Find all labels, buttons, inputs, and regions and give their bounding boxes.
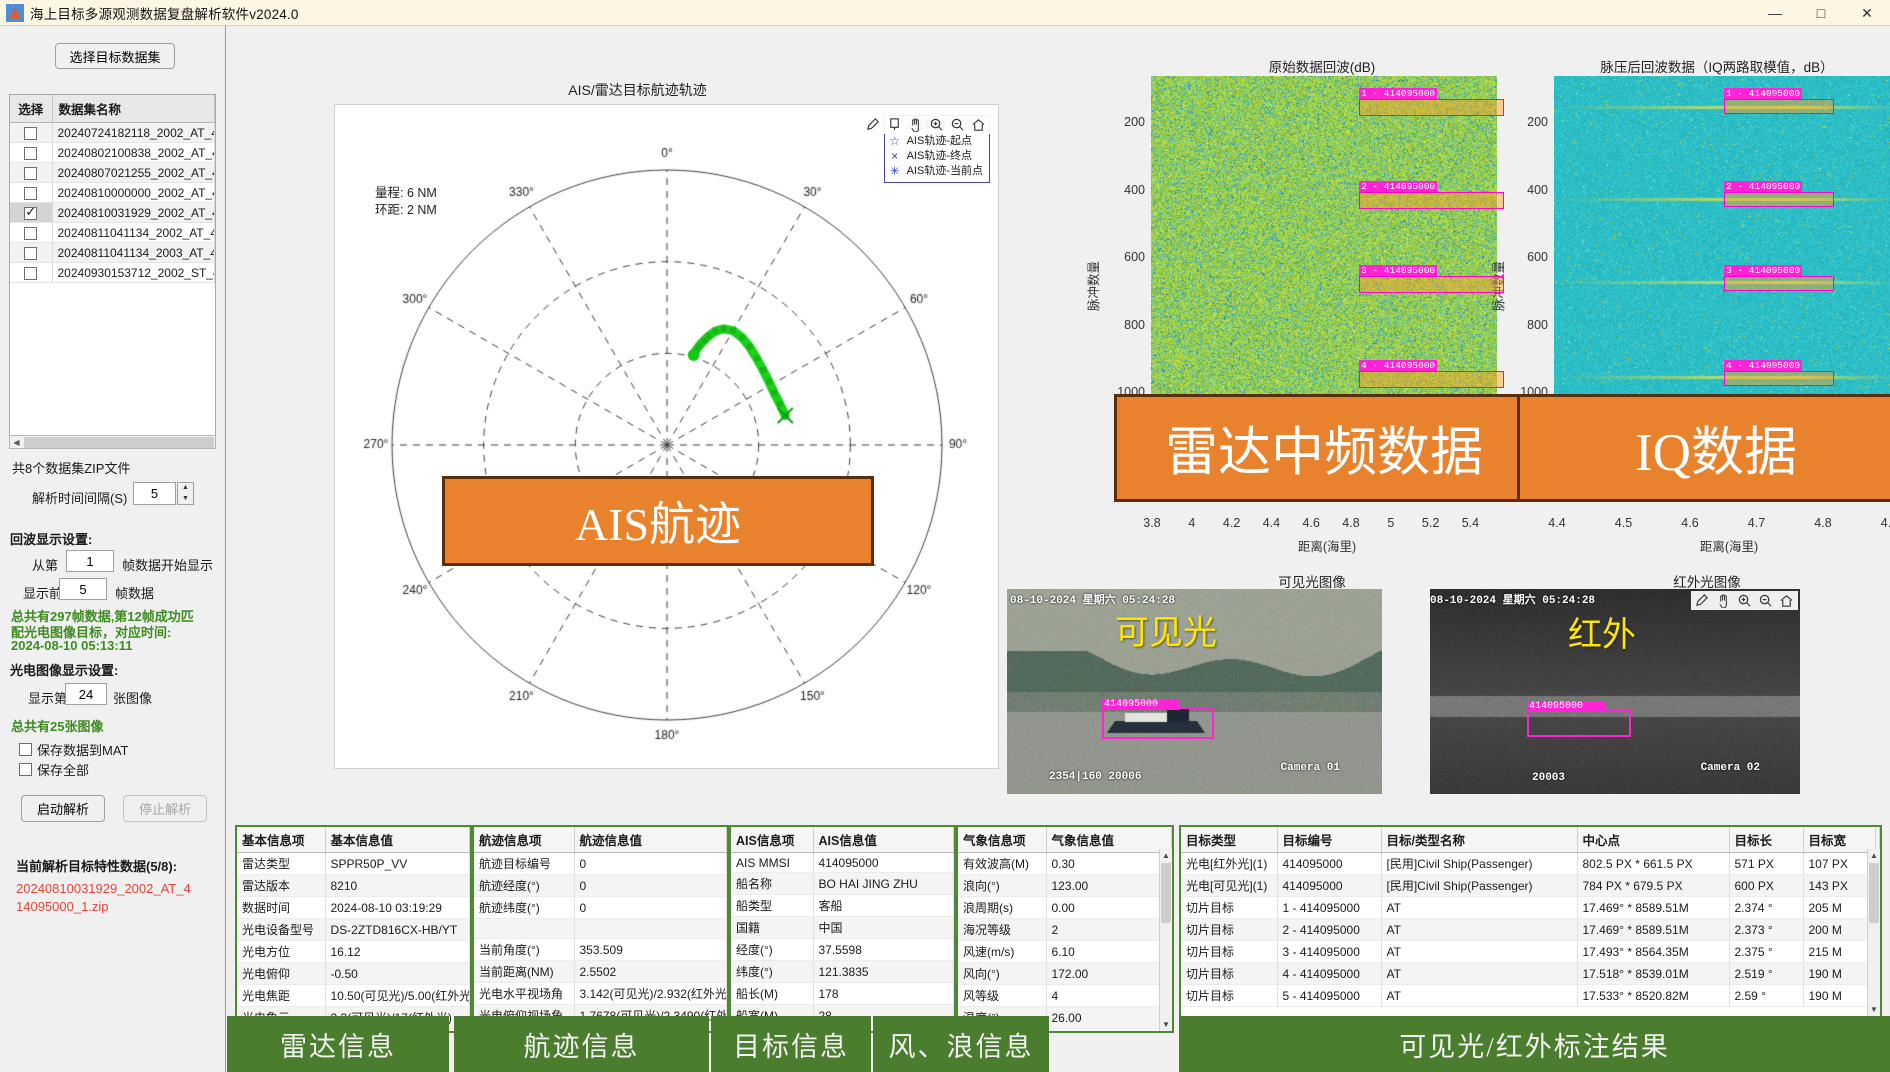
image-index-input[interactable] — [65, 683, 107, 705]
table-cell: 光电方位 — [237, 941, 325, 963]
dataset-row[interactable]: 20240811041134_2002_AT_414 — [10, 223, 215, 243]
dataset-row-name: 20240724182118_2002_AT_413 — [52, 123, 215, 143]
table-cell: 2.59 ° — [1729, 985, 1803, 1007]
section-tab-label: 航迹信息 — [524, 1025, 640, 1064]
table-cell: BO HAI JING ZHU — [813, 873, 954, 895]
brush-icon[interactable] — [866, 117, 881, 132]
table-cell: 121.3835 — [813, 961, 954, 983]
table-cell: 航迹纬度(°) — [474, 897, 574, 919]
radar-iq-overlay-banner: IQ数据 — [1517, 394, 1890, 502]
table-cell: 切片目标 — [1181, 919, 1277, 941]
legend-asterisk-icon: ✳ — [888, 164, 902, 179]
table-cell: 2.375 ° — [1729, 941, 1803, 963]
dataset-row-checkbox-cell[interactable] — [10, 143, 52, 163]
table-cell: 当前距离(NM) — [474, 961, 574, 983]
table-cell: 17.493° * 8564.35M — [1577, 941, 1729, 963]
radar-raw-ylabel: 脉冲数量 — [1083, 261, 1102, 311]
legend-entry-current: ✳ AIS轨迹-当前点 — [888, 164, 983, 179]
image-index-suffix: 张图像 — [113, 688, 152, 707]
table-cell: 414095000 — [813, 853, 954, 873]
table-cell: 经度(°) — [731, 939, 813, 961]
scroll-thumb[interactable] — [1161, 863, 1171, 923]
section-tab[interactable]: 雷达信息 — [227, 1016, 449, 1072]
table-row[interactable]: 经度(°)37.5598 — [731, 939, 954, 961]
dataset-checkbox[interactable] — [24, 147, 37, 160]
table-cell: -0.50 — [325, 963, 470, 985]
table-row[interactable] — [474, 919, 727, 939]
table-row[interactable]: 航迹经度(°)0 — [474, 875, 727, 897]
radar-target-label: 2 - 414095000 — [1359, 181, 1437, 192]
infrared-osd-bottom-left: 20003 — [1532, 772, 1565, 784]
x-tick-label: 4.8 — [1331, 516, 1371, 530]
table-cell: 浪向(°) — [958, 875, 1046, 897]
dataset-row-name: 20240810031929_2002_AT_414 — [52, 203, 215, 223]
legend-label-start: AIS轨迹-起点 — [907, 134, 972, 149]
visible-osd-bottom-left: 2354|160 20006 — [1049, 771, 1141, 783]
table-row[interactable]: 切片目标3 - 414095000AT17.493° * 8564.35M2.3… — [1181, 941, 1880, 963]
table-cell: 17.533° * 8520.82M — [1577, 985, 1729, 1007]
table-cell: 205 M — [1803, 897, 1875, 919]
infrared-image-title: 红外光图像 — [1557, 571, 1857, 591]
dataset-row[interactable]: 20240807021255_2002_AT_414 — [10, 163, 215, 183]
track-info-table[interactable]: 航迹信息项航迹信息值航迹目标编号0航迹经度(°)0航迹纬度(°)0当前角度(°)… — [472, 825, 729, 1033]
table-cell: AIS MMSI — [731, 853, 813, 873]
radar-target-box — [1724, 192, 1834, 207]
maximize-button[interactable]: □ — [1798, 0, 1844, 26]
x-tick-label: 4.6 — [1670, 516, 1710, 530]
table-cell: 风等级 — [958, 985, 1046, 1007]
table-cell — [574, 919, 727, 939]
table-cell: AT — [1381, 919, 1577, 941]
table-cell: 2 - 414095000 — [1277, 919, 1381, 941]
radar-target-label: 1 - 414095000 — [1724, 88, 1802, 99]
table-cell: AT — [1381, 897, 1577, 919]
stepper-down-icon[interactable]: ▼ — [178, 494, 193, 505]
column-header: AIS信息值 — [813, 827, 954, 853]
column-header: 航迹信息值 — [574, 827, 727, 853]
radar-target-label: 2 - 414095000 — [1724, 181, 1802, 192]
table-row[interactable]: 光电焦距10.50(可见光)/5.00(红外光) — [237, 985, 470, 1007]
column-header: 基本信息项 — [237, 827, 325, 853]
table-cell: 当前角度(°) — [474, 939, 574, 961]
show-first-input[interactable] — [59, 578, 107, 600]
table-cell: 切片目标 — [1181, 985, 1277, 1007]
table-cell: 123.00 — [1046, 875, 1172, 897]
table-row[interactable]: 风等级4 — [958, 985, 1172, 1007]
table-cell: AT — [1381, 985, 1577, 1007]
frame-status-line-3: 2024-08-10 05:13:11 — [11, 638, 132, 653]
dataset-row-checkbox-cell[interactable] — [10, 183, 52, 203]
table-cell: 2 — [1046, 919, 1172, 941]
radar-target-label: 4 - 414095000 — [1359, 360, 1437, 371]
section-tab[interactable]: 可见光/红外标注结果 — [1179, 1016, 1890, 1072]
title-bar: 海上目标多源观测数据复盘解析软件v2024.0 — □ ✕ — [0, 0, 1890, 26]
close-button[interactable]: ✕ — [1844, 0, 1890, 26]
window-controls: — □ ✕ — [1752, 0, 1890, 26]
weather-table-vscroll[interactable]: ▲ ▼ — [1159, 849, 1172, 1031]
section-tab-label: 可见光/红外标注结果 — [1399, 1025, 1670, 1064]
dataset-list-table[interactable]: 选择 数据集名称 20240724182118_2002_AT_41320240… — [9, 94, 216, 442]
y-tick-label: 600 — [1105, 250, 1145, 264]
interval-stepper[interactable]: ▲ ▼ — [177, 482, 194, 505]
y-tick-label: 400 — [1508, 183, 1548, 197]
table-cell: 2.519 ° — [1729, 963, 1803, 985]
table-row[interactable]: 光电方位16.12 — [237, 941, 470, 963]
dataset-row[interactable]: 20240802100838_2002_AT_414 — [10, 143, 215, 163]
from-frame-suffix: 帧数据开始显示 — [122, 555, 213, 574]
radar-raw-xlabel: 距离(海里) — [1262, 536, 1392, 555]
dataset-row[interactable]: 20240724182118_2002_AT_413 — [10, 123, 215, 143]
dataset-checkbox[interactable] — [24, 167, 37, 180]
table-cell: 802.5 PX * 661.5 PX — [1577, 853, 1729, 875]
infrared-detection-box — [1527, 709, 1631, 737]
infrared-axes-toolbar[interactable] — [1691, 591, 1798, 610]
column-header: 目标编号 — [1277, 827, 1381, 853]
table-row[interactable]: 浪周期(s)0.00 — [958, 897, 1172, 919]
table-cell: 切片目标 — [1181, 897, 1277, 919]
ais-ring-label: 环距: 2 NM — [375, 202, 437, 219]
radar-iq-title: 脉压后回波数据（IQ两路取模值，dB） — [1517, 56, 1890, 76]
table-cell: 切片目标 — [1181, 941, 1277, 963]
table-cell: 船长(M) — [731, 983, 813, 1005]
save-mat-checkbox[interactable] — [19, 743, 32, 756]
section-tab-bar: 雷达信息航迹信息目标信息风、浪信息可见光/红外标注结果 — [227, 1016, 1890, 1072]
radar-target-box — [1359, 99, 1504, 116]
basic-info-table[interactable]: 基本信息项基本信息值雷达类型SPPR50P_VV雷达版本8210数据时间2024… — [235, 825, 472, 1033]
radar-target-label: 4 - 414095000 — [1724, 360, 1802, 371]
current-file-line-1: 20240810031929_2002_AT_4 — [16, 881, 191, 896]
table-cell: 8210 — [325, 875, 470, 897]
image-total-label: 总共有25张图像 — [11, 716, 103, 735]
app-icon — [6, 5, 24, 21]
section-tab-label: 目标信息 — [733, 1025, 849, 1064]
table-cell: 353.509 — [574, 939, 727, 961]
table-row[interactable]: 有效波高(M)0.30 — [958, 853, 1172, 875]
table-cell: 0 — [574, 853, 727, 875]
ais-track-panel: AIS/雷达目标航迹轨迹 量程: 6 NM 环距: 2 NM — AIS轨迹 ☆… — [305, 80, 970, 785]
pan-hand-icon[interactable] — [908, 117, 923, 132]
dataset-checkbox[interactable] — [24, 127, 37, 140]
radar-raw-title: 原始数据回波(dB) — [1122, 56, 1522, 76]
table-row[interactable]: AIS MMSI414095000 — [731, 853, 954, 873]
show-first-prefix: 显示前 — [23, 583, 62, 602]
table-row[interactable]: 切片目标5 - 414095000AT17.533° * 8520.82M2.5… — [1181, 985, 1880, 1007]
table-cell: 0 — [574, 897, 727, 919]
column-header: 目标宽 — [1803, 827, 1875, 853]
column-header: AIS信息项 — [731, 827, 813, 853]
table-row[interactable]: 浪向(°)123.00 — [958, 875, 1172, 897]
dataset-checkbox[interactable] — [24, 247, 37, 260]
radar-raw-overlay-banner: 雷达中频数据 — [1114, 394, 1534, 502]
dataset-row[interactable]: 20240930153712_2002_ST_412 — [10, 263, 215, 283]
home-icon[interactable] — [971, 117, 986, 132]
table-cell: 571 PX — [1729, 853, 1803, 875]
table-cell: 600 PX — [1729, 875, 1803, 897]
table-row[interactable]: 切片目标1 - 414095000AT17.469° * 8589.51M2.3… — [1181, 897, 1880, 919]
from-frame-prefix: 从第 — [32, 555, 58, 574]
x-tick-label: 4.4 — [1251, 516, 1291, 530]
table-row[interactable]: 风向(°)172.00 — [958, 963, 1172, 985]
table-row[interactable]: 光电[可见光](1)414095000[民用]Civil Ship(Passen… — [1181, 875, 1880, 897]
table-row[interactable]: 船长(M)178 — [731, 983, 954, 1005]
dataset-row-name: 20240802100838_2002_AT_414 — [52, 143, 215, 163]
radar-target-label: 3 - 414095000 — [1724, 265, 1802, 276]
infrared-detection-label: 414095000 — [1527, 701, 1605, 712]
radar-target-box — [1359, 371, 1504, 388]
zoom-in-icon[interactable] — [1737, 593, 1752, 608]
show-first-suffix: 帧数据 — [115, 583, 154, 602]
dataset-row-name: 20240811041134_2002_AT_414 — [52, 223, 215, 243]
table-cell: 2024-08-10 03:19:29 — [325, 897, 470, 919]
target-annotation-table[interactable]: 目标类型目标编号目标/类型名称中心点目标长目标宽设备光电[红外光](1)4140… — [1179, 825, 1882, 1033]
table-cell: 光电俯仰 — [237, 963, 325, 985]
table-cell: 风速(m/s) — [958, 941, 1046, 963]
dataset-checkbox[interactable] — [24, 227, 37, 240]
table-cell: 光电设备型号 — [237, 919, 325, 941]
table-cell: 4 — [1046, 985, 1172, 1007]
dataset-row-checkbox-cell[interactable] — [10, 203, 52, 223]
table-row[interactable]: 风速(m/s)6.10 — [958, 941, 1172, 963]
table-cell: 3 - 414095000 — [1277, 941, 1381, 963]
save-mat-checkbox-row[interactable]: 保存数据到MAT — [19, 740, 128, 759]
dataset-row-checkbox-cell[interactable] — [10, 263, 52, 283]
table-row[interactable]: 当前距离(NM)2.5502 — [474, 961, 727, 983]
table-cell: 172.00 — [1046, 963, 1172, 985]
radar-iq-image[interactable] — [1554, 76, 1890, 420]
stepper-up-icon[interactable]: ▲ — [178, 483, 193, 494]
scroll-thumb[interactable] — [24, 437, 214, 448]
scroll-up-arrow[interactable]: ▲ — [1160, 849, 1172, 862]
table-cell: 17.469° * 8589.51M — [1577, 919, 1729, 941]
table-cell: 光电水平视场角 — [474, 983, 574, 1005]
table-cell: 414095000 — [1277, 875, 1381, 897]
table-cell: 0 — [574, 875, 727, 897]
table-cell: 国籍 — [731, 917, 813, 939]
legend-label-end: AIS轨迹-终点 — [907, 149, 972, 164]
left-control-panel: 选择目标数据集 选择 数据集名称 20240724182118_2002_AT_… — [0, 26, 226, 1072]
x-tick-label: 4.2 — [1212, 516, 1252, 530]
table-cell: 143 PX — [1803, 875, 1875, 897]
table-cell: 4 - 414095000 — [1277, 963, 1381, 985]
scroll-thumb[interactable] — [1869, 863, 1879, 923]
table-cell: 雷达版本 — [237, 875, 325, 897]
current-analysis-title: 当前解析目标特性数据(5/8): — [16, 856, 177, 875]
dataset-row[interactable]: 20240811041134_2003_AT_414 — [10, 243, 215, 263]
table-cell: 16.12 — [325, 941, 470, 963]
x-tick-label: 4 — [1172, 516, 1212, 530]
radar-target-box — [1359, 192, 1504, 209]
table-row[interactable]: 当前角度(°)353.509 — [474, 939, 727, 961]
table-row[interactable]: 船类型客船 — [731, 895, 954, 917]
table-cell: [民用]Civil Ship(Passenger) — [1381, 853, 1577, 875]
radar-target-label: 1 - 414095000 — [1359, 88, 1437, 99]
zoom-in-icon[interactable] — [929, 117, 944, 132]
table-cell: 2.374 ° — [1729, 897, 1803, 919]
table-cell: 航迹经度(°) — [474, 875, 574, 897]
dataset-col-name: 数据集名称 — [52, 95, 215, 123]
table-row[interactable]: 光电水平视场角3.142(可见光)/2.932(红外光) — [474, 983, 727, 1005]
radar-target-box — [1724, 99, 1834, 114]
zip-count-label: 共8个数据集ZIP文件 — [12, 458, 130, 477]
interval-label: 解析时间间隔(S) — [32, 488, 127, 507]
scroll-up-arrow[interactable]: ▲ — [1868, 849, 1880, 862]
stop-analysis-button: 停止解析 — [123, 795, 207, 822]
pan-hand-icon[interactable] — [1716, 593, 1731, 608]
table-cell: 200 M — [1803, 919, 1875, 941]
start-analysis-button[interactable]: 启动解析 — [21, 795, 105, 822]
dataset-row[interactable]: 20240810000000_2002_AT_412 — [10, 183, 215, 203]
dataset-row-checkbox-cell[interactable] — [10, 163, 52, 183]
x-tick-label: 4.7 — [1737, 516, 1777, 530]
visible-detection-label: 414095000 — [1102, 699, 1180, 710]
table-row[interactable]: 纬度(°)121.3835 — [731, 961, 954, 983]
select-dataset-button[interactable]: 选择目标数据集 — [55, 43, 175, 69]
ais-axes-toolbar[interactable] — [862, 115, 990, 134]
dataset-row-checkbox-cell[interactable] — [10, 243, 52, 263]
ais-plot-title: AIS/雷达目标航迹轨迹 — [305, 80, 970, 100]
ais-range-info: 量程: 6 NM 环距: 2 NM — [375, 185, 437, 219]
table-row[interactable]: 切片目标2 - 414095000AT17.469° * 8589.51M2.3… — [1181, 919, 1880, 941]
dataset-row-name: 20240810000000_2002_AT_412 — [52, 183, 215, 203]
dataset-checkbox[interactable] — [24, 187, 37, 200]
table-cell: 数据时间 — [237, 897, 325, 919]
table-cell: 37.5598 — [813, 939, 954, 961]
table-cell: 浪周期(s) — [958, 897, 1046, 919]
table-row[interactable]: 光电设备型号DS-2ZTD816CX-HB/YT — [237, 919, 470, 941]
table-cell: 纬度(°) — [731, 961, 813, 983]
table-row[interactable]: 雷达版本8210 — [237, 875, 470, 897]
table-row[interactable]: 海况等级2 — [958, 919, 1172, 941]
section-tab[interactable]: 航迹信息 — [454, 1016, 709, 1072]
radar-iq-xlabel: 距离(海里) — [1664, 536, 1794, 555]
minimize-button[interactable]: — — [1752, 0, 1798, 26]
table-cell: 178 — [813, 983, 954, 1005]
column-header: 中心点 — [1577, 827, 1729, 853]
legend-star-icon: ☆ — [888, 134, 902, 149]
section-tab-label: 雷达信息 — [280, 1025, 396, 1064]
table-cell: AT — [1381, 941, 1577, 963]
table-row[interactable]: 航迹纬度(°)0 — [474, 897, 727, 919]
column-header: 目标长 — [1729, 827, 1803, 853]
visible-osd-camera: Camera 01 — [1281, 762, 1340, 774]
column-header: 目标类型 — [1181, 827, 1277, 853]
table-cell: 船类型 — [731, 895, 813, 917]
table-cell: 6.10 — [1046, 941, 1172, 963]
x-tick-label: 5.4 — [1450, 516, 1490, 530]
table-cell: 190 M — [1803, 985, 1875, 1007]
save-all-label: 保存全部 — [37, 760, 89, 779]
dataset-row[interactable]: 20240810031929_2002_AT_414 — [10, 203, 215, 223]
ais-range-label: 量程: 6 NM — [375, 185, 437, 202]
dataset-horizontal-scrollbar[interactable]: ◀ — [9, 435, 216, 449]
table-cell: 0.00 — [1046, 897, 1172, 919]
section-tab[interactable]: 风、浪信息 — [873, 1016, 1049, 1072]
x-tick-label: 4.8 — [1803, 516, 1843, 530]
dataset-row-name: 20240811041134_2003_AT_414 — [52, 243, 215, 263]
x-tick-label: 3.8 — [1132, 516, 1172, 530]
table-cell: 光电焦距 — [237, 985, 325, 1007]
x-tick-label: 5.2 — [1411, 516, 1451, 530]
legend-cross-icon: × — [888, 149, 902, 164]
table-cell: 215 M — [1803, 941, 1875, 963]
scroll-left-arrow[interactable]: ◀ — [10, 438, 23, 447]
radar-raw-image[interactable] — [1151, 76, 1497, 420]
dataset-row-checkbox-cell[interactable] — [10, 223, 52, 243]
table-row[interactable]: 船名称BO HAI JING ZHU — [731, 873, 954, 895]
dataset-row-checkbox-cell[interactable] — [10, 123, 52, 143]
save-all-checkbox[interactable] — [19, 763, 32, 776]
table-row[interactable]: 切片目标4 - 414095000AT17.518° * 8539.01M2.5… — [1181, 963, 1880, 985]
table-row[interactable]: 航迹目标编号0 — [474, 853, 727, 875]
scroll-down-arrow[interactable]: ▼ — [1868, 1003, 1880, 1016]
ais-info-table[interactable]: AIS信息项AIS信息值AIS MMSI414095000船名称BO HAI J… — [729, 825, 956, 1033]
table-cell: 光电[可见光](1) — [1181, 875, 1277, 897]
y-tick-label: 600 — [1508, 250, 1548, 264]
table-cell: 海况等级 — [958, 919, 1046, 941]
datatip-icon[interactable] — [887, 117, 902, 132]
column-header: 气象信息值 — [1046, 827, 1172, 853]
table-cell: 784 PX * 679.5 PX — [1577, 875, 1729, 897]
table-cell: 17.518° * 8539.01M — [1577, 963, 1729, 985]
table-cell: 雷达类型 — [237, 853, 325, 875]
dataset-checkbox[interactable] — [24, 207, 37, 220]
brush-icon[interactable] — [1695, 593, 1710, 608]
table-cell: 190 M — [1803, 963, 1875, 985]
radar-target-box — [1724, 371, 1834, 386]
target-table-vscroll[interactable]: ▲ ▼ — [1867, 849, 1880, 1016]
weather-info-table[interactable]: 气象信息项气象信息值有效波高(M)0.30浪向(°)123.00浪周期(s)0.… — [956, 825, 1174, 1033]
home-icon[interactable] — [1779, 593, 1794, 608]
image-index-prefix: 显示第 — [28, 688, 67, 707]
visible-camera-view[interactable]: 08-10-2024 星期六 05:24:28 可见光 414095000 23… — [1007, 589, 1382, 794]
y-tick-label: 200 — [1508, 115, 1548, 129]
table-row[interactable]: 数据时间2024-08-10 03:19:29 — [237, 897, 470, 919]
table-row[interactable]: 光电[红外光](1)414095000[民用]Civil Ship(Passen… — [1181, 853, 1880, 875]
y-tick-label: 800 — [1508, 318, 1548, 332]
zoom-out-icon[interactable] — [950, 117, 965, 132]
dataset-checkbox[interactable] — [24, 267, 37, 280]
table-cell: 中国 — [813, 917, 954, 939]
interval-input[interactable] — [133, 482, 176, 505]
window-title: 海上目标多源观测数据复盘解析软件v2024.0 — [30, 3, 299, 23]
table-cell: 17.469° * 8589.51M — [1577, 897, 1729, 919]
table-row[interactable]: 国籍中国 — [731, 917, 954, 939]
save-all-checkbox-row[interactable]: 保存全部 — [19, 760, 89, 779]
radar-target-box — [1359, 276, 1504, 293]
legend-entry-end: × AIS轨迹-终点 — [888, 149, 983, 164]
y-tick-label: 800 — [1105, 318, 1145, 332]
table-cell: [民用]Civil Ship(Passenger) — [1381, 875, 1577, 897]
from-frame-input[interactable] — [66, 550, 114, 572]
table-row[interactable]: 雷达类型SPPR50P_VV — [237, 853, 470, 875]
x-tick-label: 4.4 — [1537, 516, 1577, 530]
table-cell: SPPR50P_VV — [325, 853, 470, 875]
legend-label-current: AIS轨迹-当前点 — [907, 164, 983, 179]
infrared-osd-timestamp: 08-10-2024 星期六 05:24:28 — [1430, 591, 1595, 607]
table-row[interactable]: 光电俯仰-0.50 — [237, 963, 470, 985]
radar-target-label: 3 - 414095000 — [1359, 265, 1437, 276]
table-cell: 0.30 — [1046, 853, 1172, 875]
table-cell: 船名称 — [731, 873, 813, 895]
table-cell: 有效波高(M) — [958, 853, 1046, 875]
zoom-out-icon[interactable] — [1758, 593, 1773, 608]
table-cell: AT — [1381, 963, 1577, 985]
x-tick-label: 4.6 — [1291, 516, 1331, 530]
ais-polar-axes[interactable]: 量程: 6 NM 环距: 2 NM — AIS轨迹 ☆ AIS轨迹-起点 × A… — [334, 104, 999, 769]
table-cell: 光电[红外光](1) — [1181, 853, 1277, 875]
section-tab[interactable]: 目标信息 — [711, 1016, 871, 1072]
infrared-camera-view[interactable]: 08-10-2024 星期六 05:24:28 红外 414095000 200… — [1430, 589, 1800, 794]
